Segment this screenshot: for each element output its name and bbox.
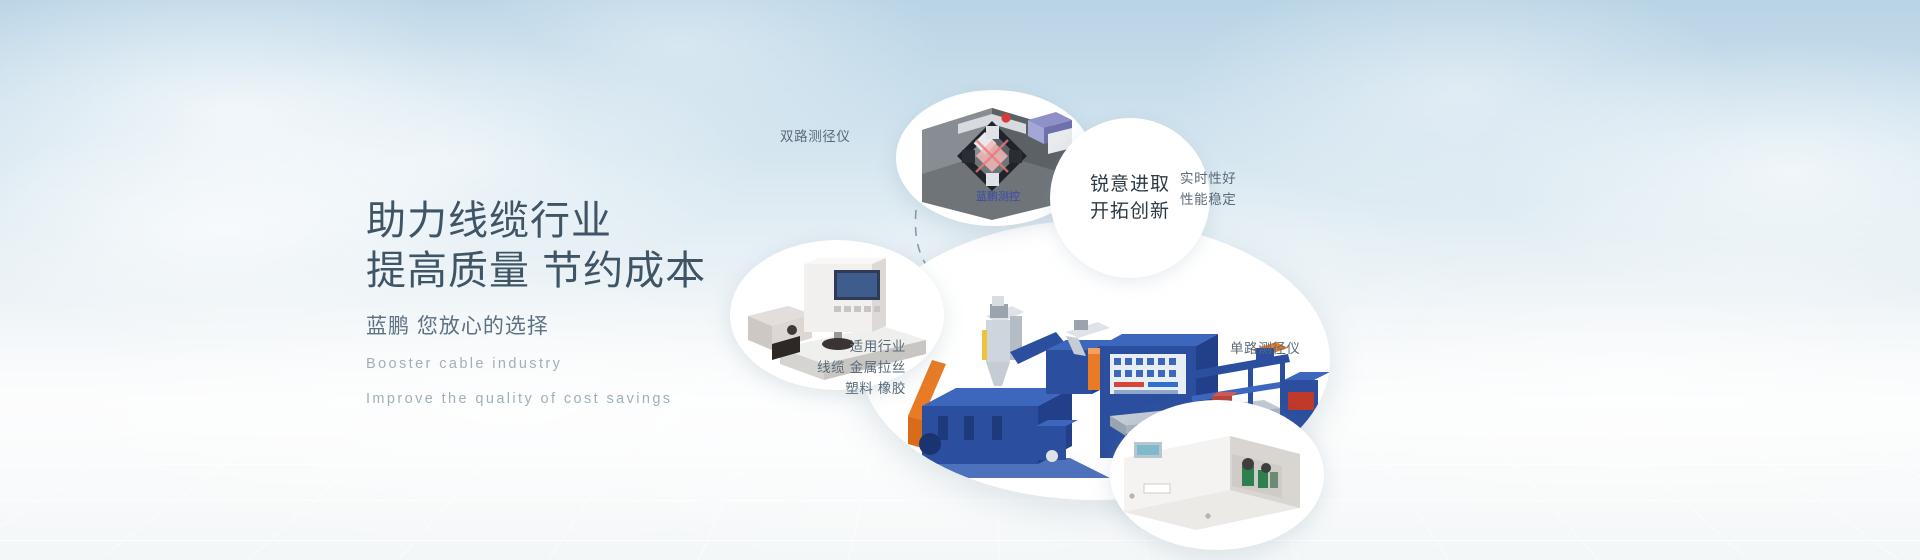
product-graphic-cluster: 蓝鹏测控 xyxy=(820,0,1920,560)
floor-grid-line-vertical xyxy=(548,393,659,560)
floor-grid-line-vertical xyxy=(249,425,398,560)
slogan-line-1: 锐意进取 xyxy=(1090,171,1170,198)
label-dual-gauge: 双路测径仪 xyxy=(780,126,851,147)
label-features: 实时性好 性能稳定 xyxy=(1180,168,1236,210)
feature-line-1: 实时性好 xyxy=(1180,168,1236,189)
floor-grid-line-vertical xyxy=(99,439,259,560)
slogan-line-2: 开拓创新 xyxy=(1090,198,1170,225)
label-applications: 适用行业 线缆 金属拉丝 塑料 橡胶 xyxy=(716,336,906,399)
hero-banner: 助力线缆行业 提高质量 节约成本 蓝鹏 您放心的选择 Booster cable… xyxy=(0,0,1920,560)
floor-grid-line-vertical xyxy=(399,410,532,560)
slogan-text: 锐意进取 开拓创新 xyxy=(1090,171,1170,225)
bubble-single-gauge xyxy=(1110,400,1324,550)
feature-line-2: 性能稳定 xyxy=(1180,189,1236,210)
apply-line-2: 塑料 橡胶 xyxy=(716,378,906,399)
floor-grid-line-vertical xyxy=(0,451,117,560)
device-brand-text: 蓝鹏测控 xyxy=(976,189,1020,203)
apply-title: 适用行业 xyxy=(716,336,906,357)
label-single-gauge: 单路测径仪 xyxy=(1230,338,1301,359)
apply-line-1: 线缆 金属拉丝 xyxy=(716,357,906,378)
single-gauge-illustration xyxy=(1110,400,1324,550)
